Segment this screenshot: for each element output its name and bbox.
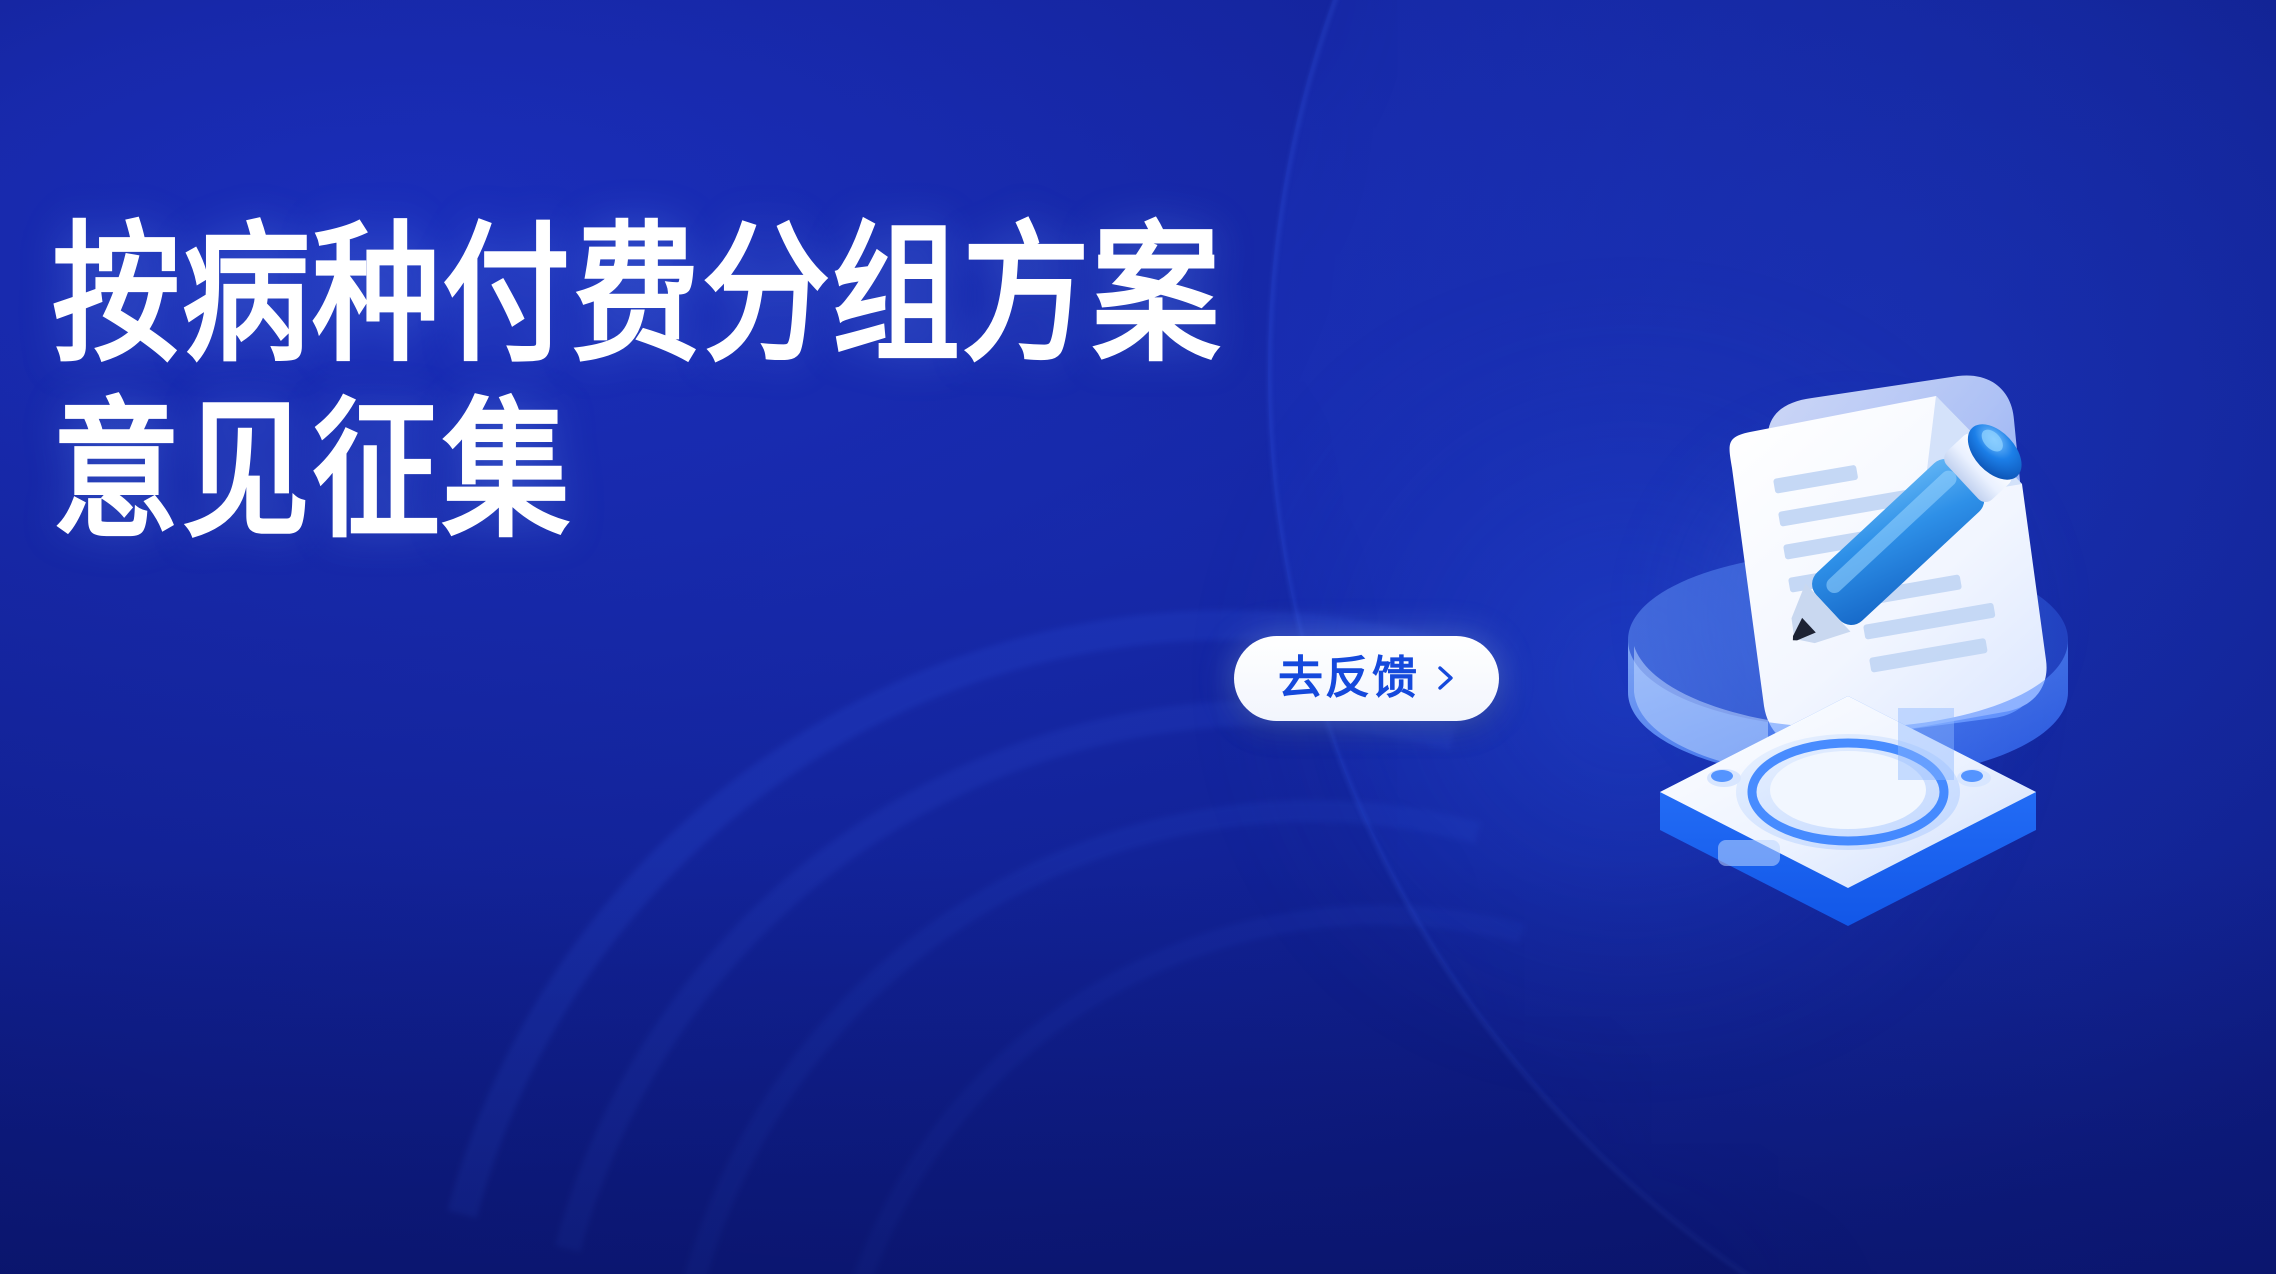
headline-line-1: 按病种付费分组方案 xyxy=(52,216,1222,376)
go-to-feedback-button[interactable]: 去反馈 xyxy=(1234,636,1499,721)
chevron-right-icon xyxy=(1433,665,1459,691)
document-pencil-illustration xyxy=(1598,340,2098,860)
feedback-banner: 按病种付费分组方案 意见征集 去反馈 xyxy=(0,0,2276,1274)
platform-glass-tab xyxy=(1898,708,1954,780)
headline-line-2: 意见征集 xyxy=(52,392,1222,552)
background-bottom-shade xyxy=(0,854,2276,1274)
banner-headline: 按病种付费分组方案 意见征集 xyxy=(52,216,1222,527)
go-to-feedback-label: 去反馈 xyxy=(1278,655,1419,700)
